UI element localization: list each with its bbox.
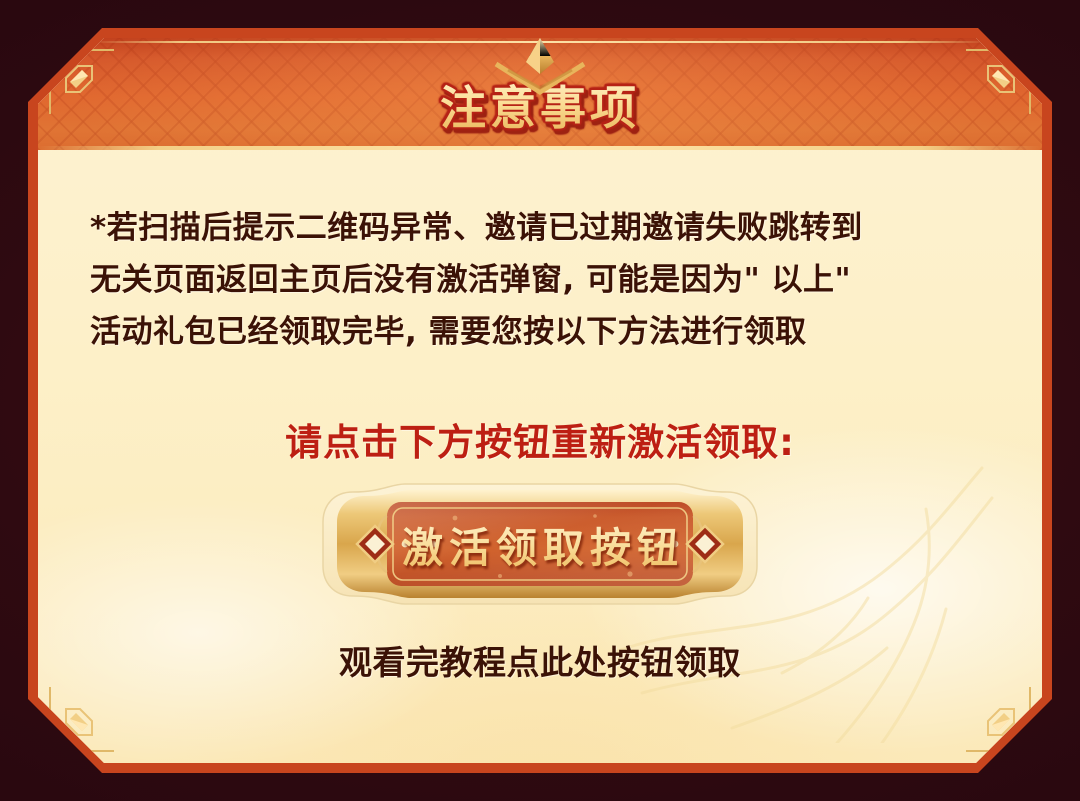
- page-title: 注意事项: [38, 72, 1042, 138]
- activate-claim-button[interactable]: 激活领取按钮: [295, 482, 785, 606]
- notice-line: *若扫描后提示二维码异常、邀请已过期邀请失败跳转到: [90, 202, 990, 254]
- header-band: 注意事项: [38, 38, 1042, 150]
- cta-headline: 请点击下方按钮重新激活领取:: [38, 412, 1042, 466]
- header-gold-hairline: [92, 41, 988, 43]
- ornament-dot: [644, 541, 651, 548]
- ornament-dot: [430, 541, 437, 548]
- notice-line: 无关页面返回主页后没有激活弹窗, 可能是因为" 以上": [90, 254, 990, 306]
- button-frame: [295, 482, 785, 606]
- page-background: 注意事项: [0, 0, 1080, 801]
- notice-line: 活动礼包已经领取完毕, 需要您按以下方法进行领取: [90, 306, 990, 358]
- ornament-dot: [402, 541, 409, 548]
- notice-paragraph: *若扫描后提示二维码异常、邀请已过期邀请失败跳转到 无关页面返回主页后没有激活弹…: [90, 202, 990, 358]
- ornament-dot: [672, 541, 679, 548]
- footer-note: 观看完教程点此处按钮领取: [38, 636, 1042, 684]
- card-inner-panel: 注意事项: [38, 38, 1042, 763]
- card-body: *若扫描后提示二维码异常、邀请已过期邀请失败跳转到 无关页面返回主页后没有激活弹…: [38, 150, 1042, 763]
- ornament-dot: [416, 541, 423, 548]
- ornament-dot: [658, 541, 665, 548]
- notice-card: 注意事项: [28, 28, 1052, 773]
